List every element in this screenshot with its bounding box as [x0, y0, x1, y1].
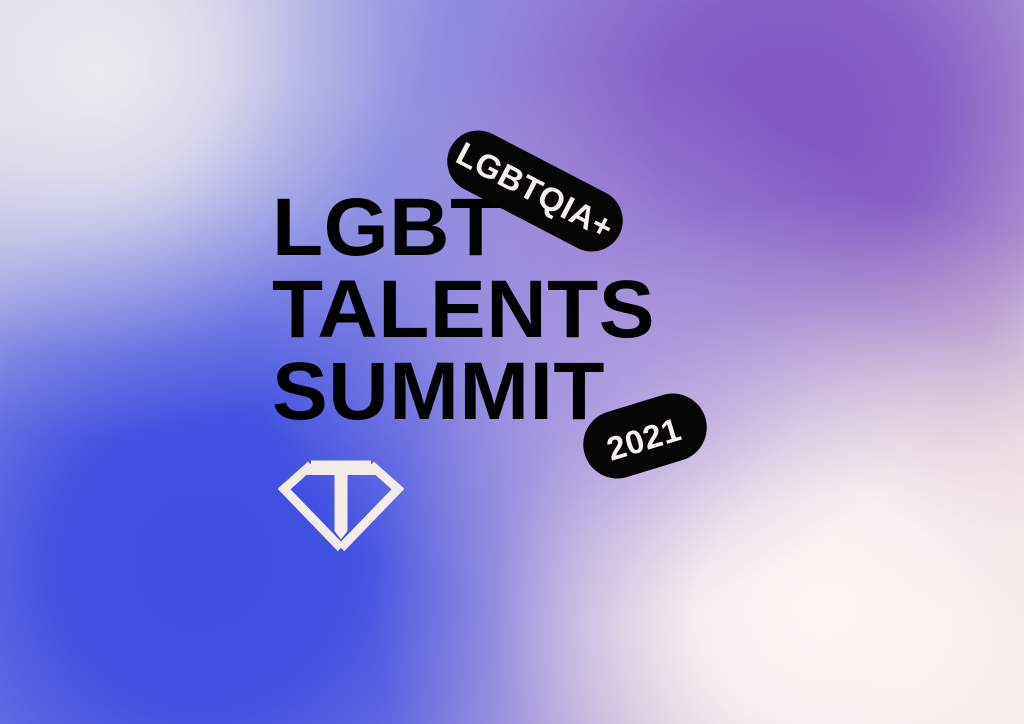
title-line-talents: TALENTS: [272, 270, 655, 350]
diamond-t-logo: [278, 458, 404, 554]
title-line-summit: SUMMIT: [272, 352, 655, 432]
poster-canvas: LGBT TALENTS SUMMIT 2021 LGBTQIA+: [0, 0, 1024, 724]
